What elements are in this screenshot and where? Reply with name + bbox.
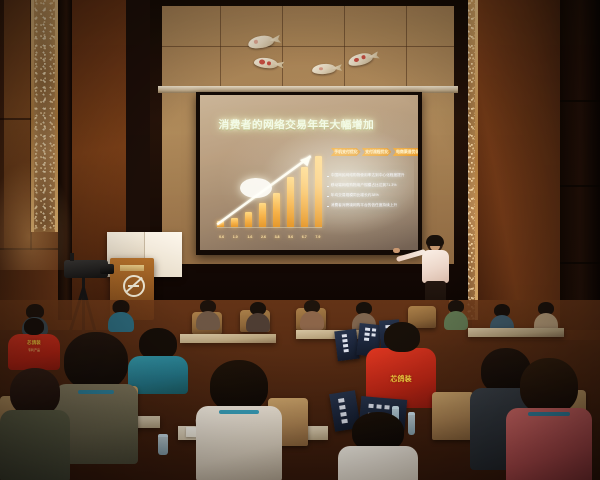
koi-fish-3-ornament <box>312 63 337 75</box>
mosaic-light-column-left <box>34 0 55 232</box>
presenter-hand <box>393 248 400 253</box>
attendee-foreground-right-center <box>196 360 282 480</box>
attendee-head <box>380 322 424 354</box>
slide-chevron-breadcrumb: 手机支付优化 支付流程优化 电商渠道优化 <box>331 148 418 156</box>
chart-bar-label: 2.6 <box>261 235 266 239</box>
cigarette-icon <box>128 285 139 287</box>
slide-bullet-item: 移动端网络购物用户规模占比达到71.3% <box>331 183 412 188</box>
attendee <box>246 302 270 332</box>
podium-nameplate <box>120 265 144 271</box>
audience-table <box>468 328 564 337</box>
wall-seam <box>560 185 600 187</box>
audience-table <box>180 334 276 343</box>
conference-room-photo: 消费者的网络交易年年大幅增加 0.6 1.0 1.6 2.6 <box>0 0 600 480</box>
column-edge-light <box>55 0 58 232</box>
chart-bar-label: 6.7 <box>302 235 307 239</box>
chevron-step-2: 支付流程优化 <box>362 148 392 156</box>
right-wall-dark-strip <box>560 0 600 330</box>
red-shirt-logo-text: 芯鸽装 <box>390 374 412 384</box>
slide-text-panel: 手机支付优化 支付流程优化 电商渠道优化 中国网民网络购物使用率达到中心化程度提… <box>331 148 412 238</box>
table-tent-card <box>334 329 359 361</box>
camera-lens-icon <box>100 264 114 274</box>
chart-callout-ellipse <box>240 178 271 198</box>
camera-microphone-icon <box>70 253 74 261</box>
column-edge-light <box>31 0 34 232</box>
chevron-step-1: 手机支付优化 <box>331 148 361 156</box>
slide-bullet-item: 消费者对跨境网购平台的信任度持续上升 <box>331 203 412 208</box>
chart-bar-label: 0.6 <box>219 235 224 239</box>
chart-bar-label: 5.6 <box>288 235 293 239</box>
chart-bar-label: 1.6 <box>247 235 252 239</box>
attendee-foreground-left <box>0 368 70 480</box>
attendee <box>300 300 324 330</box>
slide-bullet-item: 年均交易规模同比增长约38% <box>331 193 412 198</box>
column-edge-light <box>475 0 478 320</box>
paper-cup <box>158 434 168 455</box>
chart-bar-label: 7.9 <box>315 235 320 239</box>
slide-bullet-item: 中国网民网络购物使用率达到中心化程度提升 <box>331 173 412 178</box>
presentation-slide: 消费者的网络交易年年大幅增加 0.6 1.0 1.6 2.6 <box>200 95 418 250</box>
presenter-torso <box>422 250 449 283</box>
attendee-foreground-pink-shirt <box>506 358 592 480</box>
chevron-step-3: 电商渠道优化 <box>392 148 418 156</box>
wall-seam <box>560 100 600 102</box>
attendee-head <box>20 318 48 338</box>
chart-bar-label: 3.8 <box>275 235 280 239</box>
slide-title: 消费者的网络交易年年大幅增加 <box>218 117 374 132</box>
attendee <box>444 300 468 330</box>
red-shirt-sub-text: 专利产品 <box>28 348 40 352</box>
attendee-foreground-white-shirt <box>338 412 418 480</box>
chair <box>432 392 474 440</box>
slide-bullet-list: 中国网民网络购物使用率达到中心化程度提升 移动端网络购物用户规模占比达到71.3… <box>331 173 412 214</box>
no-smoking-icon <box>123 275 145 297</box>
wall-panel-grid <box>162 6 454 86</box>
presenter-hair <box>426 235 444 246</box>
slide-bar-chart: 0.6 1.0 1.6 2.6 3.8 5.6 6.7 7.9 <box>217 151 322 241</box>
red-shirt-logo-text: 芯鸽装 <box>27 340 41 346</box>
chart-bar-label: 1.0 <box>233 235 238 239</box>
wall-seam <box>560 262 600 264</box>
audience-area: 芯鸽装 专利产品 芯鸽装 <box>0 300 600 480</box>
attendee-red-shirt: 芯鸽装 专利产品 <box>8 334 60 370</box>
attendee <box>196 300 220 330</box>
projection-screen[interactable]: 消费者的网络交易年年大幅增加 0.6 1.0 1.6 2.6 <box>200 95 418 250</box>
